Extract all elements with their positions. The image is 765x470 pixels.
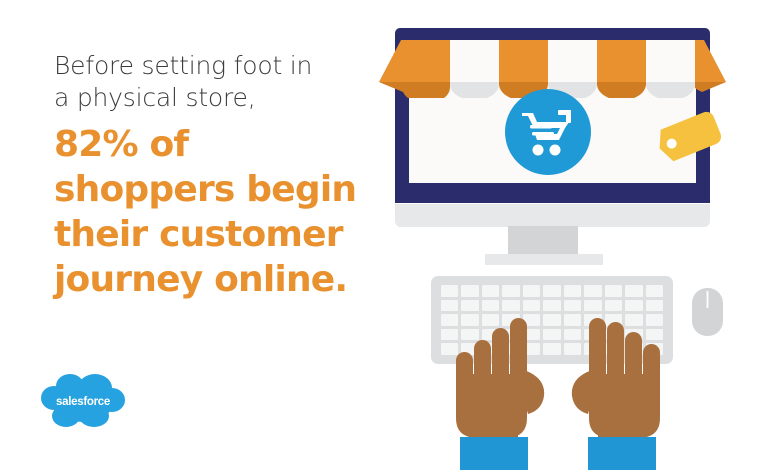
monitor-stand-base: [485, 254, 603, 265]
keyboard-key[interactable]: [523, 285, 540, 297]
lead-line-1: Before setting foot in: [54, 50, 364, 82]
typing-hands: [438, 300, 678, 470]
statistic-block: 82% of shoppers begin their customer jou…: [54, 122, 364, 302]
keyboard-key[interactable]: [646, 285, 663, 297]
keyboard-key[interactable]: [625, 285, 642, 297]
keyboard-key[interactable]: [584, 285, 601, 297]
right-hand: [572, 318, 660, 470]
keyboard-key[interactable]: [482, 285, 499, 297]
headline-text-panel: Before setting foot in a physical store,…: [54, 50, 364, 302]
keyboard-key[interactable]: [461, 285, 478, 297]
keyboard-key[interactable]: [564, 285, 581, 297]
keyboard-key[interactable]: [502, 285, 519, 297]
salesforce-logo: salesforce: [40, 372, 126, 430]
lead-line-2: a physical store,: [54, 82, 364, 114]
keyboard-key[interactable]: [543, 285, 560, 297]
stat-line-1: 82% of: [54, 122, 364, 167]
stat-line-3: their customer: [54, 212, 364, 257]
keyboard-key[interactable]: [441, 285, 458, 297]
salesforce-cloud-icon: salesforce: [40, 372, 126, 430]
typing-hands-icon: [438, 300, 678, 470]
keyboard-key[interactable]: [605, 285, 622, 297]
stat-line-2: shoppers begin: [54, 167, 364, 212]
computer-mouse[interactable]: [692, 288, 723, 336]
monitor-chin: [395, 204, 710, 227]
left-hand: [456, 318, 544, 470]
salesforce-wordmark: salesforce: [56, 396, 110, 408]
monitor-stand-neck: [508, 226, 578, 255]
price-tag: [657, 104, 729, 166]
shopping-cart-icon: [504, 88, 592, 176]
shopping-cart-badge: [504, 88, 592, 176]
computer-mouse-icon[interactable]: [692, 288, 723, 336]
price-tag-icon: [657, 104, 729, 166]
stat-line-4: journey online.: [54, 257, 364, 302]
infographic-canvas: Before setting foot in a physical store,…: [0, 0, 765, 470]
